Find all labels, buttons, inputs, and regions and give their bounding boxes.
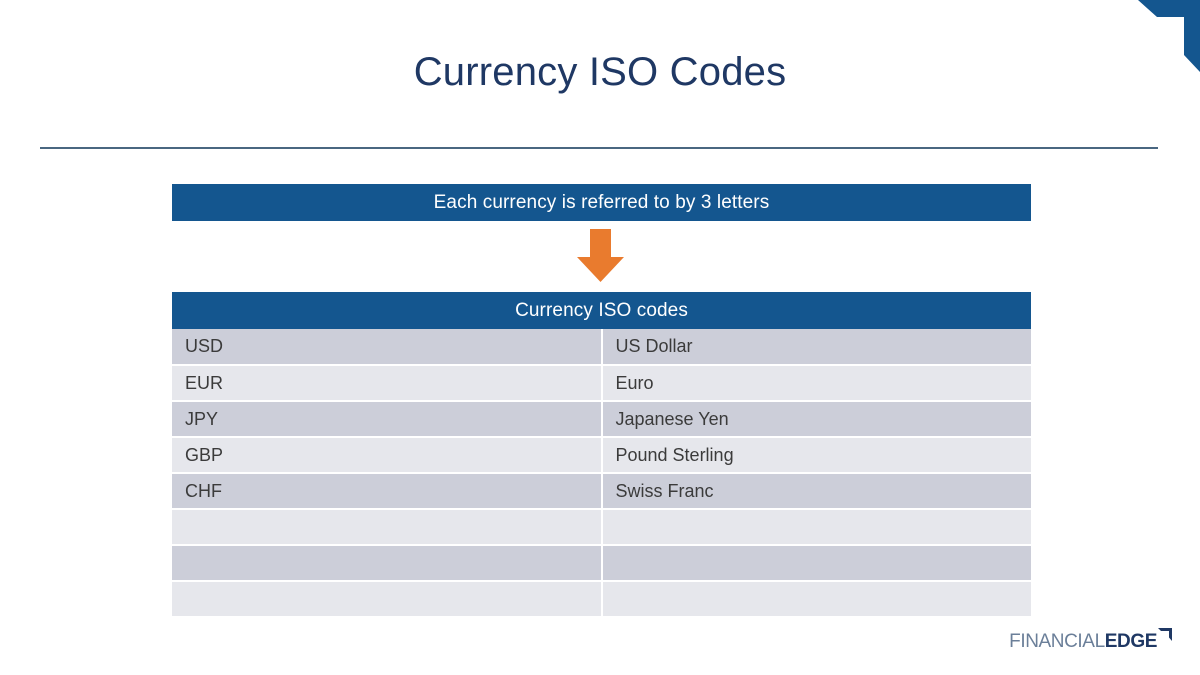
cell-currency-name: Euro [602,365,1032,401]
cell-currency-code: JPY [172,401,602,437]
cell-currency-name: Japanese Yen [602,401,1032,437]
cell-currency-code: EUR [172,365,602,401]
cell-currency-name: Swiss Franc [602,473,1032,509]
brand-logo: FINANCIAL EDGE [1009,632,1172,651]
cell-currency-name [602,581,1032,617]
currency-iso-table: Currency ISO codes USDUS DollarEUREuroJP… [172,292,1031,618]
table-row [172,581,1031,617]
table-row [172,509,1031,545]
cell-currency-name [602,545,1032,581]
cell-currency-name [602,509,1032,545]
table-row: CHFSwiss Franc [172,473,1031,509]
cell-currency-code: USD [172,329,602,365]
cell-currency-code: GBP [172,437,602,473]
logo-flag-icon [1158,628,1172,644]
table-row: GBPPound Sterling [172,437,1031,473]
cell-currency-code [172,509,602,545]
page-title: Currency ISO Codes [0,49,1200,95]
table-row: JPYJapanese Yen [172,401,1031,437]
title-divider [40,147,1158,149]
logo-text-financial: FINANCIAL [1009,632,1105,651]
logo-text-edge: EDGE [1105,632,1157,651]
table-header-row: Currency ISO codes [172,292,1031,329]
table-row: EUREuro [172,365,1031,401]
cell-currency-code [172,581,602,617]
cell-currency-code [172,545,602,581]
callout-banner: Each currency is referred to by 3 letter… [172,184,1031,221]
cell-currency-name: US Dollar [602,329,1032,365]
table-header-title: Currency ISO codes [172,292,1031,329]
down-arrow-icon [573,229,628,282]
table-row [172,545,1031,581]
slide-canvas: Currency ISO Codes Each currency is refe… [0,0,1200,675]
cell-currency-name: Pound Sterling [602,437,1032,473]
table-row: USDUS Dollar [172,329,1031,365]
cell-currency-code: CHF [172,473,602,509]
